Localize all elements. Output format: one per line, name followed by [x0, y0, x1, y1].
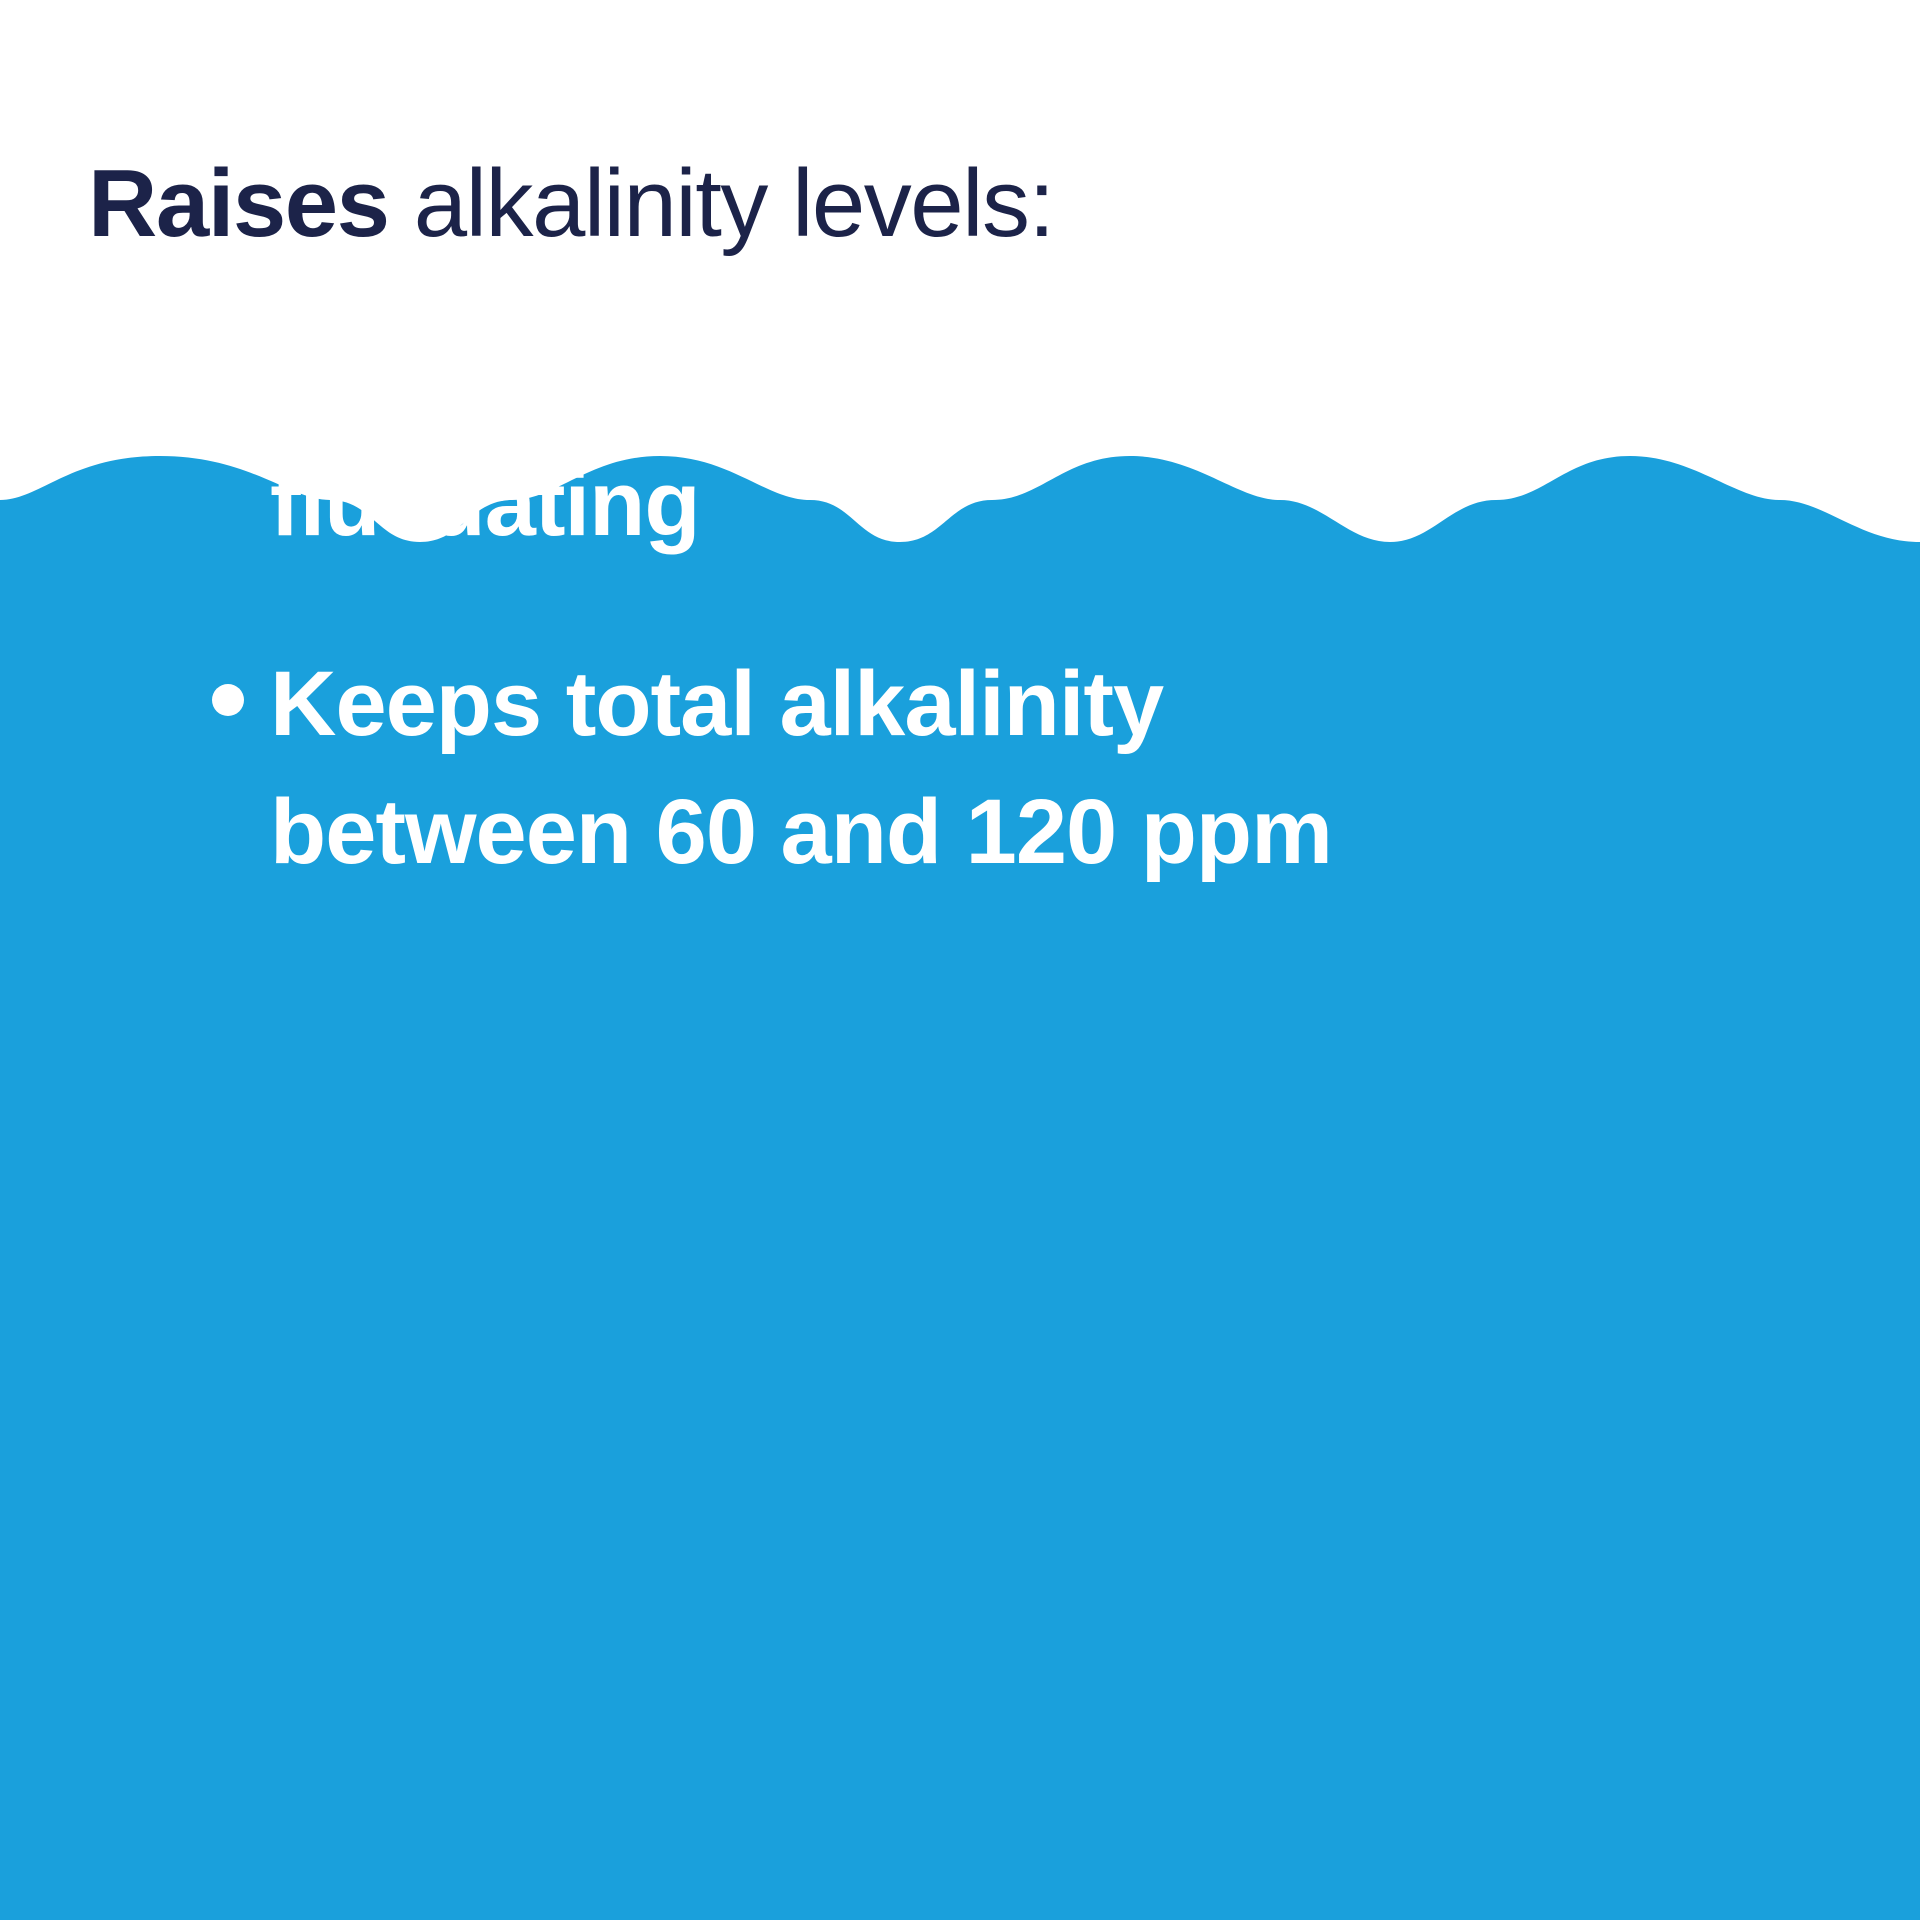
infographic-card: Raises alkalinity levels: Keeps pH level…	[0, 0, 1920, 1920]
wave-shape	[0, 360, 1920, 1920]
page-title: Raises alkalinity levels:	[88, 148, 1788, 260]
water-panel	[0, 360, 1920, 1920]
page-title-emphasis: Raises	[88, 150, 389, 257]
page-title-rest: alkalinity levels:	[389, 150, 1054, 257]
